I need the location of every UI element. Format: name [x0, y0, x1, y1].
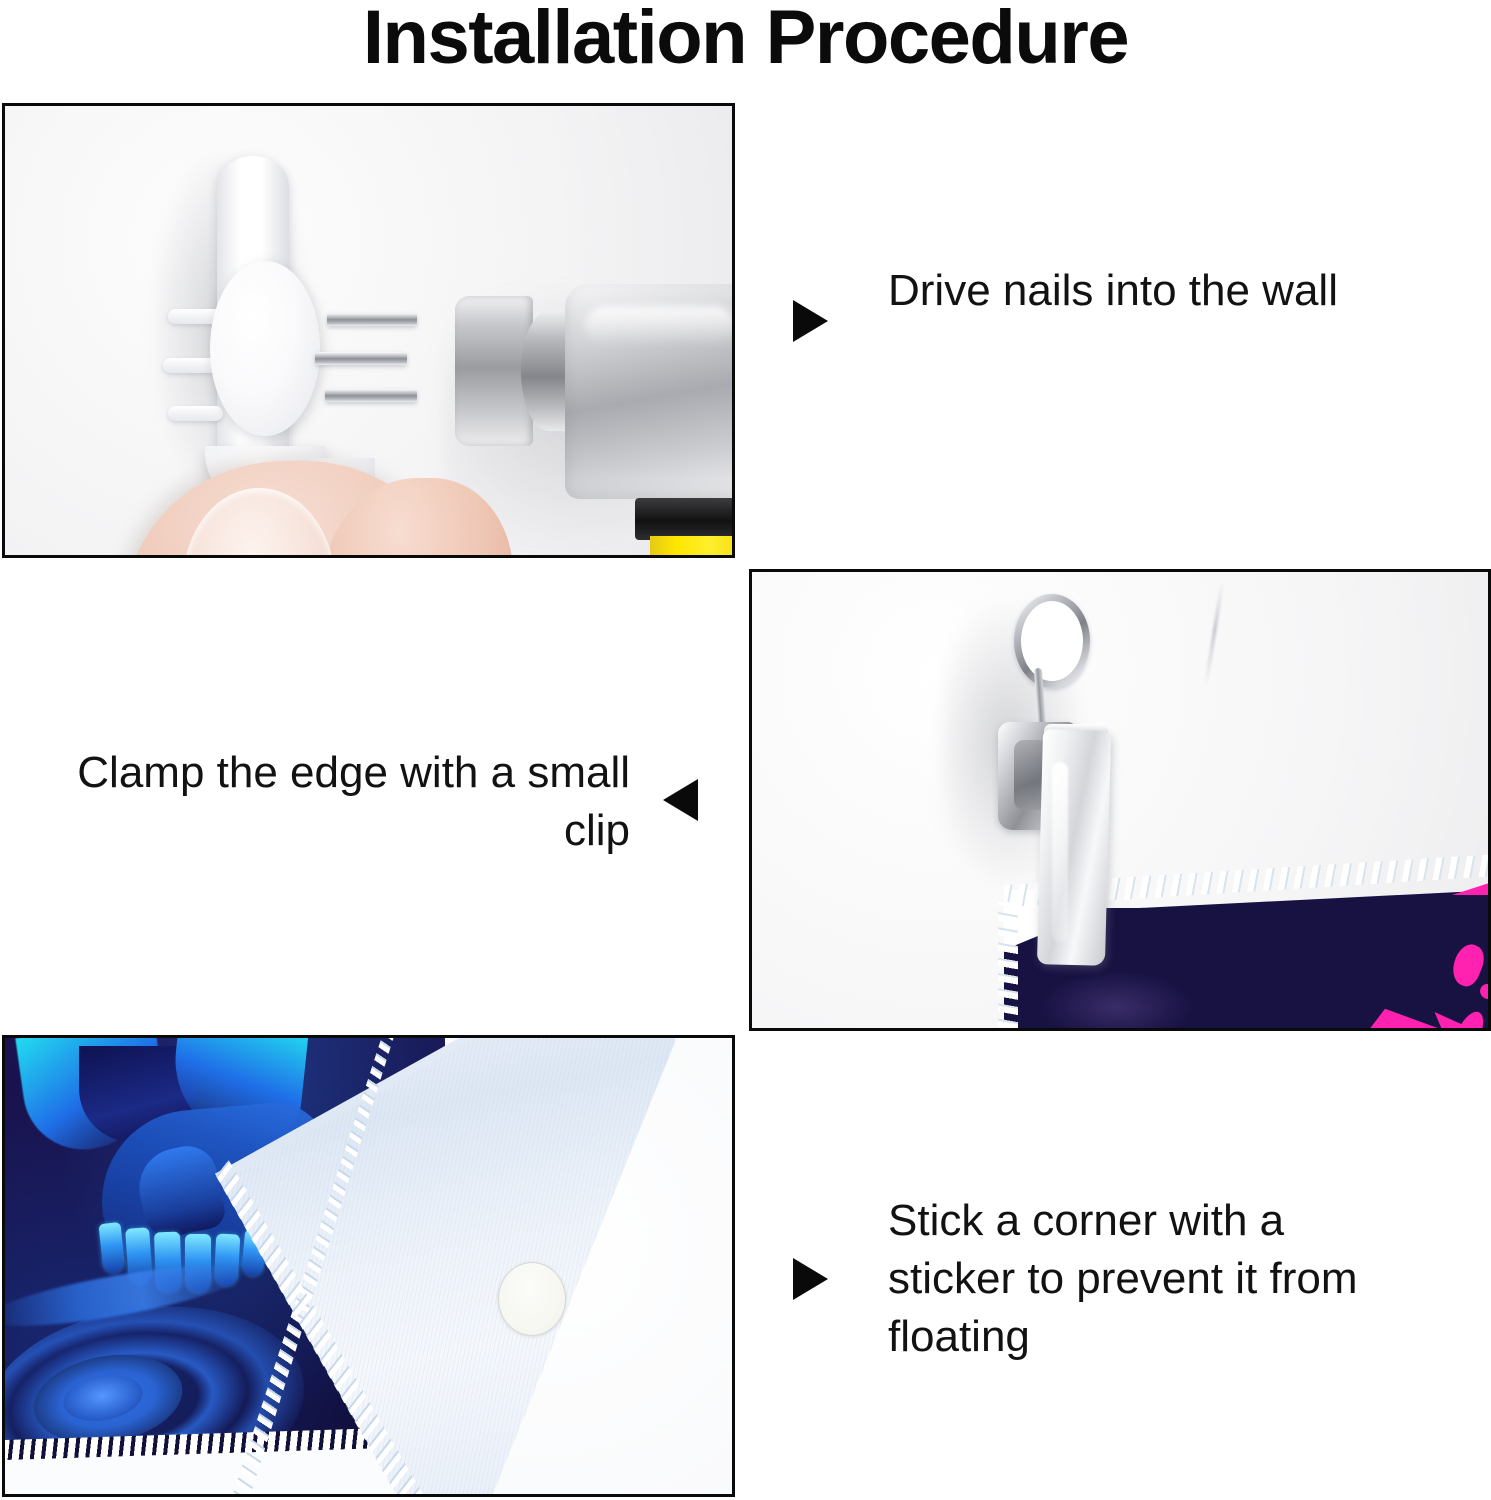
step-2-label: Clamp the edge with a small clip [70, 744, 630, 860]
triangle-right-icon [793, 300, 828, 342]
triangle-left-icon [663, 779, 698, 821]
page-title: Installation Procedure [0, 0, 1491, 80]
hook-head [210, 261, 320, 436]
hammer-handle [650, 536, 735, 558]
step-3-label: Stick a corner with a sticker to prevent… [888, 1192, 1388, 1366]
step-1-label: Drive nails into the wall [888, 262, 1368, 320]
tapestry-stitching-left [998, 902, 1018, 1031]
adhesive-sticker [498, 1262, 566, 1336]
clip-jaw [1037, 729, 1111, 966]
nail [325, 389, 417, 402]
hook-rib [168, 406, 223, 421]
tapestry-sheen [1042, 972, 1192, 1031]
hammer-ferrule [635, 498, 735, 540]
installation-procedure-infographic: Installation Procedure [0, 0, 1491, 1500]
photo-drive-nails [2, 103, 735, 558]
nail [327, 313, 417, 326]
clip-hanging-ring [1014, 594, 1090, 688]
photo-sticker-corner [2, 1035, 735, 1497]
hammer-highlight [585, 306, 735, 346]
photo-clamp-clip [749, 569, 1491, 1031]
triangle-right-icon [793, 1258, 828, 1300]
clip-highlight [1052, 762, 1068, 942]
nail [315, 352, 407, 365]
